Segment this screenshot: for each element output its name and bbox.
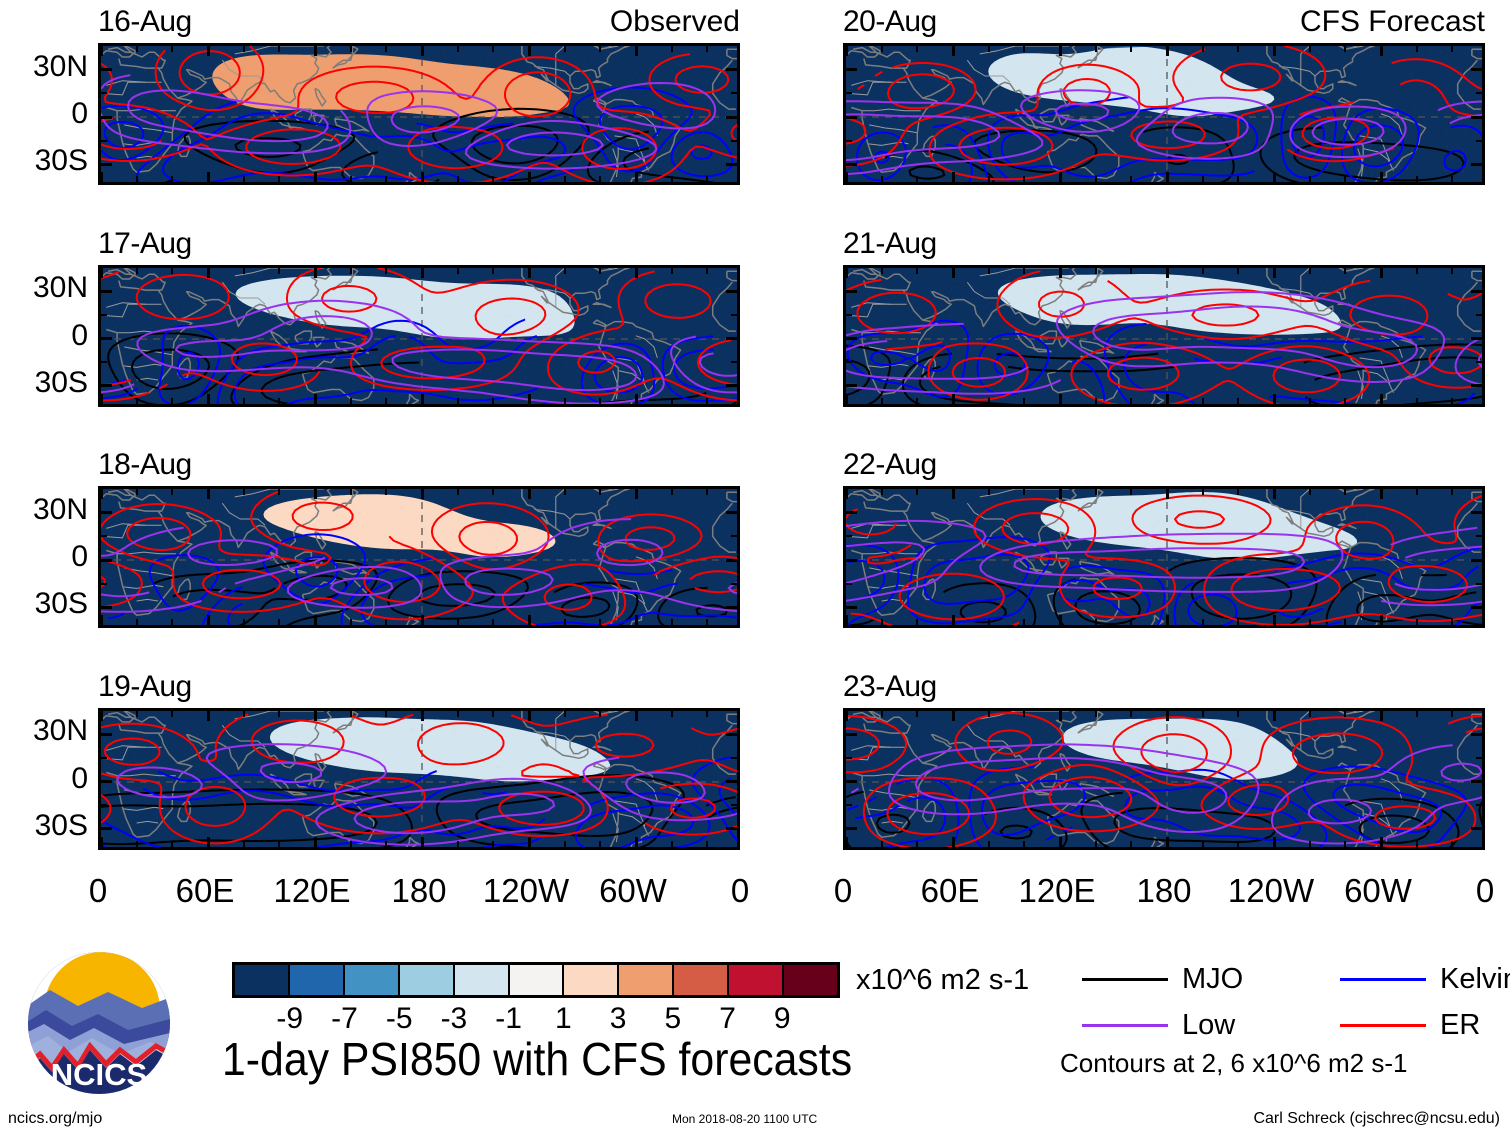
x-tick-mark <box>207 711 210 721</box>
x-tick-mark <box>1273 615 1276 625</box>
y-minor-tick <box>101 804 107 806</box>
colorbar-tick-label: 5 <box>664 1002 681 1036</box>
x-tick-mark <box>564 489 566 495</box>
y-tick-mark <box>846 290 857 293</box>
x-tick-mark <box>278 489 280 495</box>
y-tick-mark <box>101 827 112 830</box>
x-tick-mark <box>1273 268 1276 278</box>
x-axis-label: 120E <box>273 872 350 910</box>
colorbar-tick-label: -9 <box>276 1002 303 1036</box>
legend-item-low: Low <box>1082 1009 1235 1042</box>
y-tick-mark <box>101 559 112 562</box>
y-minor-tick <box>846 140 852 142</box>
x-axis-label: 60W <box>599 872 667 910</box>
x-tick-mark <box>1451 619 1453 625</box>
x-tick-mark <box>421 615 424 625</box>
x-tick-mark <box>278 711 280 717</box>
x-tick-mark <box>1451 841 1453 847</box>
x-tick-mark <box>171 489 173 495</box>
x-tick-mark <box>492 398 494 404</box>
column-header-forecast: CFS Forecast <box>1300 5 1485 39</box>
x-tick-mark <box>1095 841 1097 847</box>
x-tick-mark <box>207 837 210 847</box>
x-tick-mark <box>1130 619 1132 625</box>
x-tick-mark <box>528 172 531 182</box>
y-minor-tick <box>101 140 107 142</box>
y-tick-mark <box>846 559 857 562</box>
y-tick-mark <box>846 68 857 71</box>
x-tick-mark <box>671 176 673 182</box>
y-tick-mark <box>846 337 857 340</box>
footer-site-link[interactable]: ncics.org/mjo <box>8 1110 102 1128</box>
legend-label: MJO <box>1182 963 1243 996</box>
y-minor-tick <box>1476 757 1482 759</box>
x-tick-mark <box>100 489 103 499</box>
y-tick-mark <box>726 290 737 293</box>
x-tick-mark <box>492 619 494 625</box>
y-tick-mark <box>1471 337 1482 340</box>
x-tick-mark <box>1023 711 1025 717</box>
x-tick-mark <box>952 394 955 404</box>
x-tick-mark <box>845 268 848 278</box>
x-tick-mark <box>988 841 990 847</box>
x-tick-mark <box>1380 837 1383 847</box>
x-axis-label: 120W <box>483 872 569 910</box>
x-tick-mark <box>952 615 955 625</box>
x-tick-mark <box>385 841 387 847</box>
x-tick-mark <box>599 619 601 625</box>
colorbar-swatch <box>617 965 672 995</box>
x-tick-mark <box>528 837 531 847</box>
legend-label: Kelvin x2 <box>1440 963 1510 996</box>
y-minor-tick <box>101 361 107 363</box>
x-tick-mark <box>1309 841 1311 847</box>
colorbar-swatch <box>453 965 508 995</box>
colorbar-swatch <box>343 965 398 995</box>
x-tick-mark <box>243 841 245 847</box>
x-tick-mark <box>385 619 387 625</box>
y-tick-mark <box>726 559 737 562</box>
x-tick-mark <box>952 837 955 847</box>
x-tick-mark <box>635 268 638 278</box>
x-tick-mark <box>207 268 210 278</box>
x-tick-mark <box>1130 398 1132 404</box>
legend-line-swatch <box>1082 1024 1168 1027</box>
x-tick-mark <box>350 619 352 625</box>
x-axis-label: 180 <box>1136 872 1191 910</box>
x-tick-mark <box>278 46 280 52</box>
x-tick-mark <box>671 268 673 274</box>
x-tick-mark <box>243 46 245 52</box>
y-axis-label: 30N <box>33 493 88 527</box>
x-tick-mark <box>171 176 173 182</box>
map-panel-17-aug: 17-Aug30N030S <box>98 265 740 407</box>
x-tick-mark <box>1059 394 1062 404</box>
x-tick-mark <box>1059 711 1062 721</box>
y-tick-mark <box>101 163 112 166</box>
x-tick-mark <box>100 837 103 847</box>
x-tick-mark <box>1416 489 1418 495</box>
x-tick-mark <box>881 489 883 495</box>
x-tick-mark <box>1344 176 1346 182</box>
x-tick-mark <box>1451 268 1453 274</box>
x-tick-mark <box>1416 268 1418 274</box>
x-tick-mark <box>1273 394 1276 404</box>
y-minor-tick <box>731 757 737 759</box>
colorbar-swatch <box>782 965 837 995</box>
map-frame <box>98 486 740 628</box>
x-tick-mark <box>1416 619 1418 625</box>
x-tick-mark <box>988 176 990 182</box>
legend-label: Low <box>1182 1009 1235 1042</box>
map-frame <box>98 43 740 185</box>
x-tick-mark <box>1023 489 1025 495</box>
colorbar-swatch <box>398 965 453 995</box>
x-tick-mark <box>1202 619 1204 625</box>
y-tick-mark <box>726 116 737 119</box>
x-tick-mark <box>1237 176 1239 182</box>
x-tick-mark <box>385 489 387 495</box>
x-axis-label: 0 <box>1476 872 1494 910</box>
x-tick-mark <box>635 615 638 625</box>
x-tick-mark <box>952 711 955 721</box>
x-tick-mark <box>988 46 990 52</box>
x-tick-mark <box>1273 172 1276 182</box>
x-tick-mark <box>1309 619 1311 625</box>
x-tick-mark <box>1237 841 1239 847</box>
x-axis-label: 180 <box>391 872 446 910</box>
y-minor-tick <box>731 535 737 537</box>
x-tick-mark <box>1273 489 1276 499</box>
x-tick-mark <box>881 619 883 625</box>
x-tick-mark <box>457 268 459 274</box>
panel-date-label: 16-Aug <box>98 5 192 39</box>
x-tick-mark <box>1309 398 1311 404</box>
map-frame <box>98 708 740 850</box>
x-tick-mark <box>136 268 138 274</box>
x-tick-mark <box>492 46 494 52</box>
panel-date-label: 17-Aug <box>98 227 192 261</box>
x-tick-mark <box>1416 711 1418 717</box>
panel-date-label: 18-Aug <box>98 448 192 482</box>
ncics-logo: NCICS <box>24 948 174 1103</box>
x-tick-mark <box>492 489 494 495</box>
x-tick-mark <box>1273 46 1276 56</box>
x-tick-mark <box>421 711 424 721</box>
map-panel-22-aug: 22-Aug <box>843 486 1485 628</box>
x-tick-mark <box>136 711 138 717</box>
x-tick-mark <box>1309 489 1311 495</box>
x-tick-mark <box>100 394 103 404</box>
y-minor-tick <box>846 804 852 806</box>
x-axis-label: 60E <box>921 872 980 910</box>
map-frame <box>843 265 1485 407</box>
x-tick-mark <box>207 394 210 404</box>
x-tick-mark <box>350 711 352 717</box>
x-tick-mark <box>421 489 424 499</box>
x-tick-mark <box>278 619 280 625</box>
x-tick-mark <box>350 489 352 495</box>
legend-item-er: ER <box>1340 1009 1480 1042</box>
y-minor-tick <box>731 583 737 585</box>
x-tick-mark <box>1202 176 1204 182</box>
y-minor-tick <box>731 92 737 94</box>
x-tick-mark <box>1023 398 1025 404</box>
x-tick-mark <box>564 841 566 847</box>
x-tick-mark <box>171 268 173 274</box>
y-minor-tick <box>846 314 852 316</box>
x-tick-mark <box>243 176 245 182</box>
x-tick-mark <box>671 489 673 495</box>
map-panel-18-aug: 18-Aug30N030S <box>98 486 740 628</box>
x-tick-mark <box>421 268 424 278</box>
x-tick-mark <box>314 711 317 721</box>
x-tick-mark <box>564 46 566 52</box>
x-tick-mark <box>314 172 317 182</box>
x-axis-label: 0 <box>731 872 749 910</box>
x-tick-mark <box>988 268 990 274</box>
x-tick-mark <box>278 841 280 847</box>
y-tick-mark <box>846 606 857 609</box>
x-tick-mark <box>881 176 883 182</box>
y-tick-mark <box>726 511 737 514</box>
x-tick-mark <box>1095 711 1097 717</box>
legend-item-kelvin-x2: Kelvin x2 <box>1340 963 1510 996</box>
x-tick-mark <box>916 619 918 625</box>
x-tick-mark <box>635 489 638 499</box>
x-tick-mark <box>635 172 638 182</box>
y-minor-tick <box>731 361 737 363</box>
x-tick-mark <box>916 711 918 717</box>
x-tick-mark <box>1202 711 1204 717</box>
x-tick-mark <box>599 841 601 847</box>
x-tick-mark <box>457 841 459 847</box>
x-tick-mark <box>171 619 173 625</box>
x-tick-mark <box>492 176 494 182</box>
x-tick-mark <box>421 837 424 847</box>
x-tick-mark <box>1166 615 1169 625</box>
x-tick-mark <box>952 268 955 278</box>
y-minor-tick <box>101 757 107 759</box>
y-tick-mark <box>726 733 737 736</box>
legend-line-swatch <box>1340 978 1426 981</box>
x-tick-mark <box>1273 711 1276 721</box>
x-tick-mark <box>171 46 173 52</box>
x-tick-mark <box>1237 268 1239 274</box>
x-tick-mark <box>1023 46 1025 52</box>
x-tick-mark <box>881 268 883 274</box>
colorbar-swatch <box>288 965 343 995</box>
y-tick-mark <box>101 384 112 387</box>
x-tick-mark <box>706 46 708 52</box>
x-tick-mark <box>1023 619 1025 625</box>
x-tick-mark <box>845 711 848 721</box>
y-axis-label: 30N <box>33 271 88 305</box>
x-tick-mark <box>916 268 918 274</box>
colorbar-swatch <box>727 965 782 995</box>
y-axis-label: 30N <box>33 50 88 84</box>
x-tick-mark <box>136 841 138 847</box>
y-tick-mark <box>1471 606 1482 609</box>
y-minor-tick <box>1476 361 1482 363</box>
y-tick-mark <box>726 827 737 830</box>
x-tick-mark <box>916 489 918 495</box>
x-tick-mark <box>1023 268 1025 274</box>
x-tick-mark <box>1380 615 1383 625</box>
x-tick-mark <box>350 268 352 274</box>
panel-date-label: 21-Aug <box>843 227 937 261</box>
y-minor-tick <box>731 140 737 142</box>
x-tick-mark <box>136 176 138 182</box>
x-tick-mark <box>1166 172 1169 182</box>
y-minor-tick <box>101 92 107 94</box>
x-tick-mark <box>635 837 638 847</box>
x-tick-mark <box>171 398 173 404</box>
x-tick-mark <box>1309 711 1311 717</box>
x-tick-mark <box>988 619 990 625</box>
y-tick-mark <box>1471 163 1482 166</box>
x-tick-mark <box>671 398 673 404</box>
map-panel-23-aug: 23-Aug <box>843 708 1485 850</box>
x-tick-mark <box>1380 172 1383 182</box>
x-tick-mark <box>457 489 459 495</box>
panel-date-label: 19-Aug <box>98 670 192 704</box>
panel-date-label: 23-Aug <box>843 670 937 704</box>
x-tick-mark <box>243 711 245 717</box>
x-tick-mark <box>599 176 601 182</box>
y-minor-tick <box>1476 314 1482 316</box>
x-tick-mark <box>916 398 918 404</box>
x-tick-mark <box>314 837 317 847</box>
colorbar-tick-label: -1 <box>495 1002 522 1036</box>
x-tick-mark <box>1416 398 1418 404</box>
y-tick-mark <box>101 733 112 736</box>
legend-item-mjo: MJO <box>1082 963 1243 996</box>
x-tick-mark <box>1166 394 1169 404</box>
x-tick-mark <box>845 837 848 847</box>
x-tick-mark <box>385 176 387 182</box>
y-axis-label: 0 <box>71 97 88 131</box>
x-tick-mark <box>1344 398 1346 404</box>
y-tick-mark <box>1471 290 1482 293</box>
colorbar-swatch <box>235 965 288 995</box>
x-tick-mark <box>1451 398 1453 404</box>
colorbar-tick-label: 7 <box>719 1002 736 1036</box>
y-minor-tick <box>846 361 852 363</box>
x-axis-label: 0 <box>834 872 852 910</box>
x-tick-mark <box>100 172 103 182</box>
x-tick-mark <box>706 619 708 625</box>
colorbar-swatch <box>672 965 727 995</box>
x-tick-mark <box>1023 841 1025 847</box>
x-tick-mark <box>207 172 210 182</box>
x-tick-mark <box>1273 837 1276 847</box>
y-minor-tick <box>1476 583 1482 585</box>
x-tick-mark <box>1095 398 1097 404</box>
x-tick-mark <box>350 841 352 847</box>
x-tick-mark <box>706 268 708 274</box>
map-panel-20-aug: 20-AugCFS Forecast <box>843 43 1485 185</box>
colorbar-tick-label: 3 <box>610 1002 627 1036</box>
x-tick-mark <box>845 489 848 499</box>
map-canvas <box>101 489 740 628</box>
x-tick-mark <box>207 46 210 56</box>
x-tick-mark <box>385 268 387 274</box>
x-tick-mark <box>1166 489 1169 499</box>
x-tick-mark <box>100 711 103 721</box>
legend-line-swatch <box>1082 978 1168 981</box>
x-tick-mark <box>314 489 317 499</box>
y-tick-mark <box>846 733 857 736</box>
colorbar <box>232 962 840 998</box>
y-minor-tick <box>846 92 852 94</box>
x-tick-mark <box>314 268 317 278</box>
x-tick-mark <box>1344 711 1346 717</box>
map-panel-21-aug: 21-Aug <box>843 265 1485 407</box>
x-tick-mark <box>528 615 531 625</box>
x-tick-mark <box>243 268 245 274</box>
x-tick-mark <box>1451 46 1453 52</box>
x-tick-mark <box>1309 268 1311 274</box>
x-tick-mark <box>421 172 424 182</box>
y-minor-tick <box>101 314 107 316</box>
colorbar-swatch <box>508 965 563 995</box>
x-tick-mark <box>278 268 280 274</box>
y-axis-label: 30N <box>33 714 88 748</box>
x-tick-mark <box>136 619 138 625</box>
map-canvas <box>846 268 1485 407</box>
colorbar-tick-label: -5 <box>386 1002 413 1036</box>
x-tick-mark <box>881 711 883 717</box>
y-minor-tick <box>731 804 737 806</box>
y-minor-tick <box>1476 535 1482 537</box>
map-canvas <box>846 711 1485 850</box>
y-axis-label: 30S <box>35 587 88 621</box>
x-tick-mark <box>350 46 352 52</box>
y-tick-mark <box>846 511 857 514</box>
x-tick-mark <box>706 176 708 182</box>
map-panel-19-aug: 19-Aug30N030S <box>98 708 740 850</box>
x-tick-mark <box>314 615 317 625</box>
x-tick-mark <box>564 619 566 625</box>
x-tick-mark <box>1380 46 1383 56</box>
x-tick-mark <box>100 46 103 56</box>
y-axis-label: 0 <box>71 762 88 796</box>
footer-timestamp: Mon 2018-08-20 1100 UTC <box>672 1112 817 1126</box>
x-axis-label: 0 <box>89 872 107 910</box>
x-tick-mark <box>1023 176 1025 182</box>
x-tick-mark <box>136 398 138 404</box>
x-tick-mark <box>564 268 566 274</box>
x-tick-mark <box>1380 711 1383 721</box>
x-tick-mark <box>845 394 848 404</box>
x-tick-mark <box>1416 46 1418 52</box>
y-tick-mark <box>846 384 857 387</box>
x-tick-mark <box>1344 46 1346 52</box>
y-tick-mark <box>726 384 737 387</box>
x-tick-mark <box>1309 176 1311 182</box>
x-tick-mark <box>1344 268 1346 274</box>
x-tick-mark <box>988 711 990 717</box>
x-tick-mark <box>1237 489 1239 495</box>
x-tick-mark <box>1309 46 1311 52</box>
map-frame <box>98 265 740 407</box>
y-tick-mark <box>846 116 857 119</box>
x-tick-mark <box>916 46 918 52</box>
x-tick-mark <box>564 398 566 404</box>
x-tick-mark <box>1380 394 1383 404</box>
x-tick-mark <box>1344 619 1346 625</box>
